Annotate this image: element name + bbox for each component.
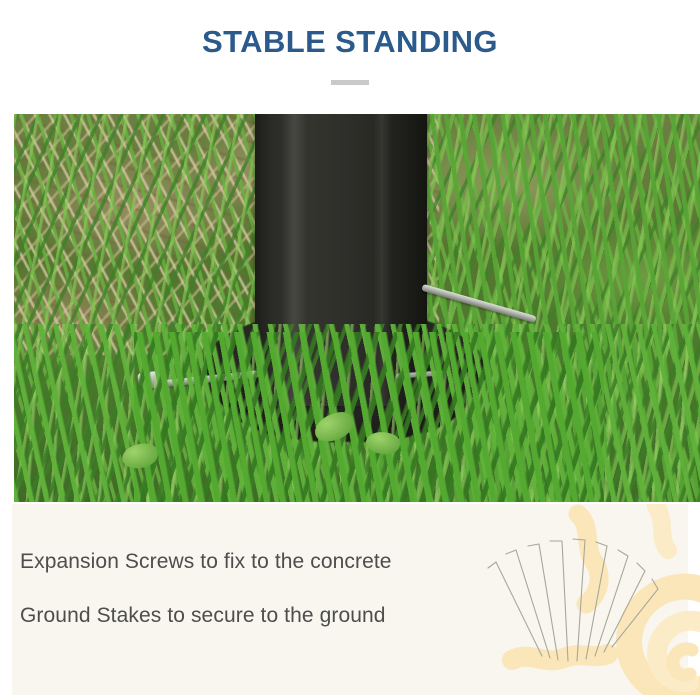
photo-scene [14,114,700,502]
bottom-white-strip [0,695,700,700]
caption-line-1: Expansion Screws to fix to the concrete [20,550,392,574]
product-feature-card: STABLE STANDING [0,0,700,700]
title-divider [331,80,369,85]
foreground-grass-tufts [134,332,604,502]
caption-line-2: Ground Stakes to secure to the ground [20,604,386,628]
header: STABLE STANDING [0,0,700,114]
page-title: STABLE STANDING [0,24,700,60]
product-photo [14,114,700,502]
caption-panel: Expansion Screws to fix to the concrete … [12,504,688,695]
